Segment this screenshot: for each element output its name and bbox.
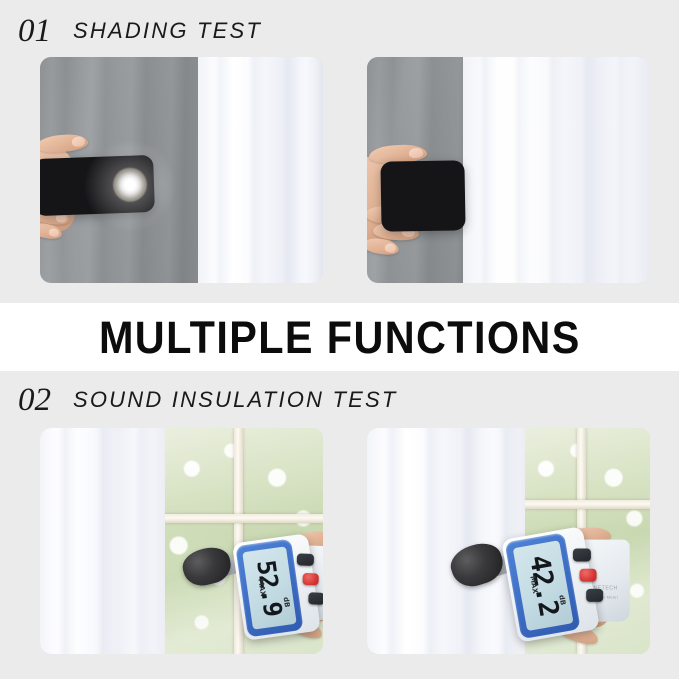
sound-level-meter: 52.9 MAX dB (174, 509, 323, 654)
banner: MULTIPLE FUNCTIONS (0, 303, 679, 371)
section-01-number: 01 (18, 15, 51, 48)
sound-test-photo-right: BENETECH Sound Level Meter 42.2 MAX dB (367, 428, 650, 654)
meter-unit-label: dB (557, 595, 566, 606)
sheer-white-curtain-panel (40, 428, 165, 654)
meter-max-button (586, 589, 603, 602)
sheer-white-curtain-panel (198, 57, 323, 283)
meter-mode-label: MAX (257, 578, 266, 597)
meter-record-button (580, 569, 597, 582)
sound-test-photo-left: 52.9 MAX dB (40, 428, 323, 654)
sound-photo-right-scene: BENETECH Sound Level Meter 42.2 MAX dB (367, 428, 650, 654)
meter-power-button (573, 548, 591, 561)
meter-max-button (308, 592, 323, 605)
section-01-title: SHADING TEST (73, 20, 262, 42)
smartphone (40, 155, 155, 216)
banner-title: MULTIPLE FUNCTIONS (99, 315, 581, 360)
fingernail (409, 148, 424, 159)
infographic-page: 01 SHADING TEST (0, 0, 679, 679)
microphone-windscreen (179, 543, 234, 590)
section-01-header: 01 SHADING TEST (0, 8, 679, 54)
fingernail (48, 228, 59, 238)
shading-photo-right-scene (367, 57, 650, 283)
shading-photo-left-scene (40, 57, 323, 283)
meter-power-button (297, 553, 314, 566)
section-02-number: 02 (18, 384, 51, 417)
section-02-title: SOUND INSULATION TEST (73, 389, 398, 411)
microphone-windscreen (446, 538, 508, 592)
sound-photo-left-scene: 52.9 MAX dB (40, 428, 323, 654)
fingernail (384, 243, 396, 254)
shading-test-photo-left (40, 57, 323, 283)
sheer-white-curtain-panel (463, 57, 650, 283)
section-02-header: 02 SOUND INSULATION TEST (0, 377, 679, 423)
shading-test-photo-right (367, 57, 650, 283)
smartphone (380, 160, 465, 231)
meter-unit-label: dB (281, 597, 289, 608)
fingernail (71, 136, 85, 147)
meter-record-button (302, 573, 318, 586)
